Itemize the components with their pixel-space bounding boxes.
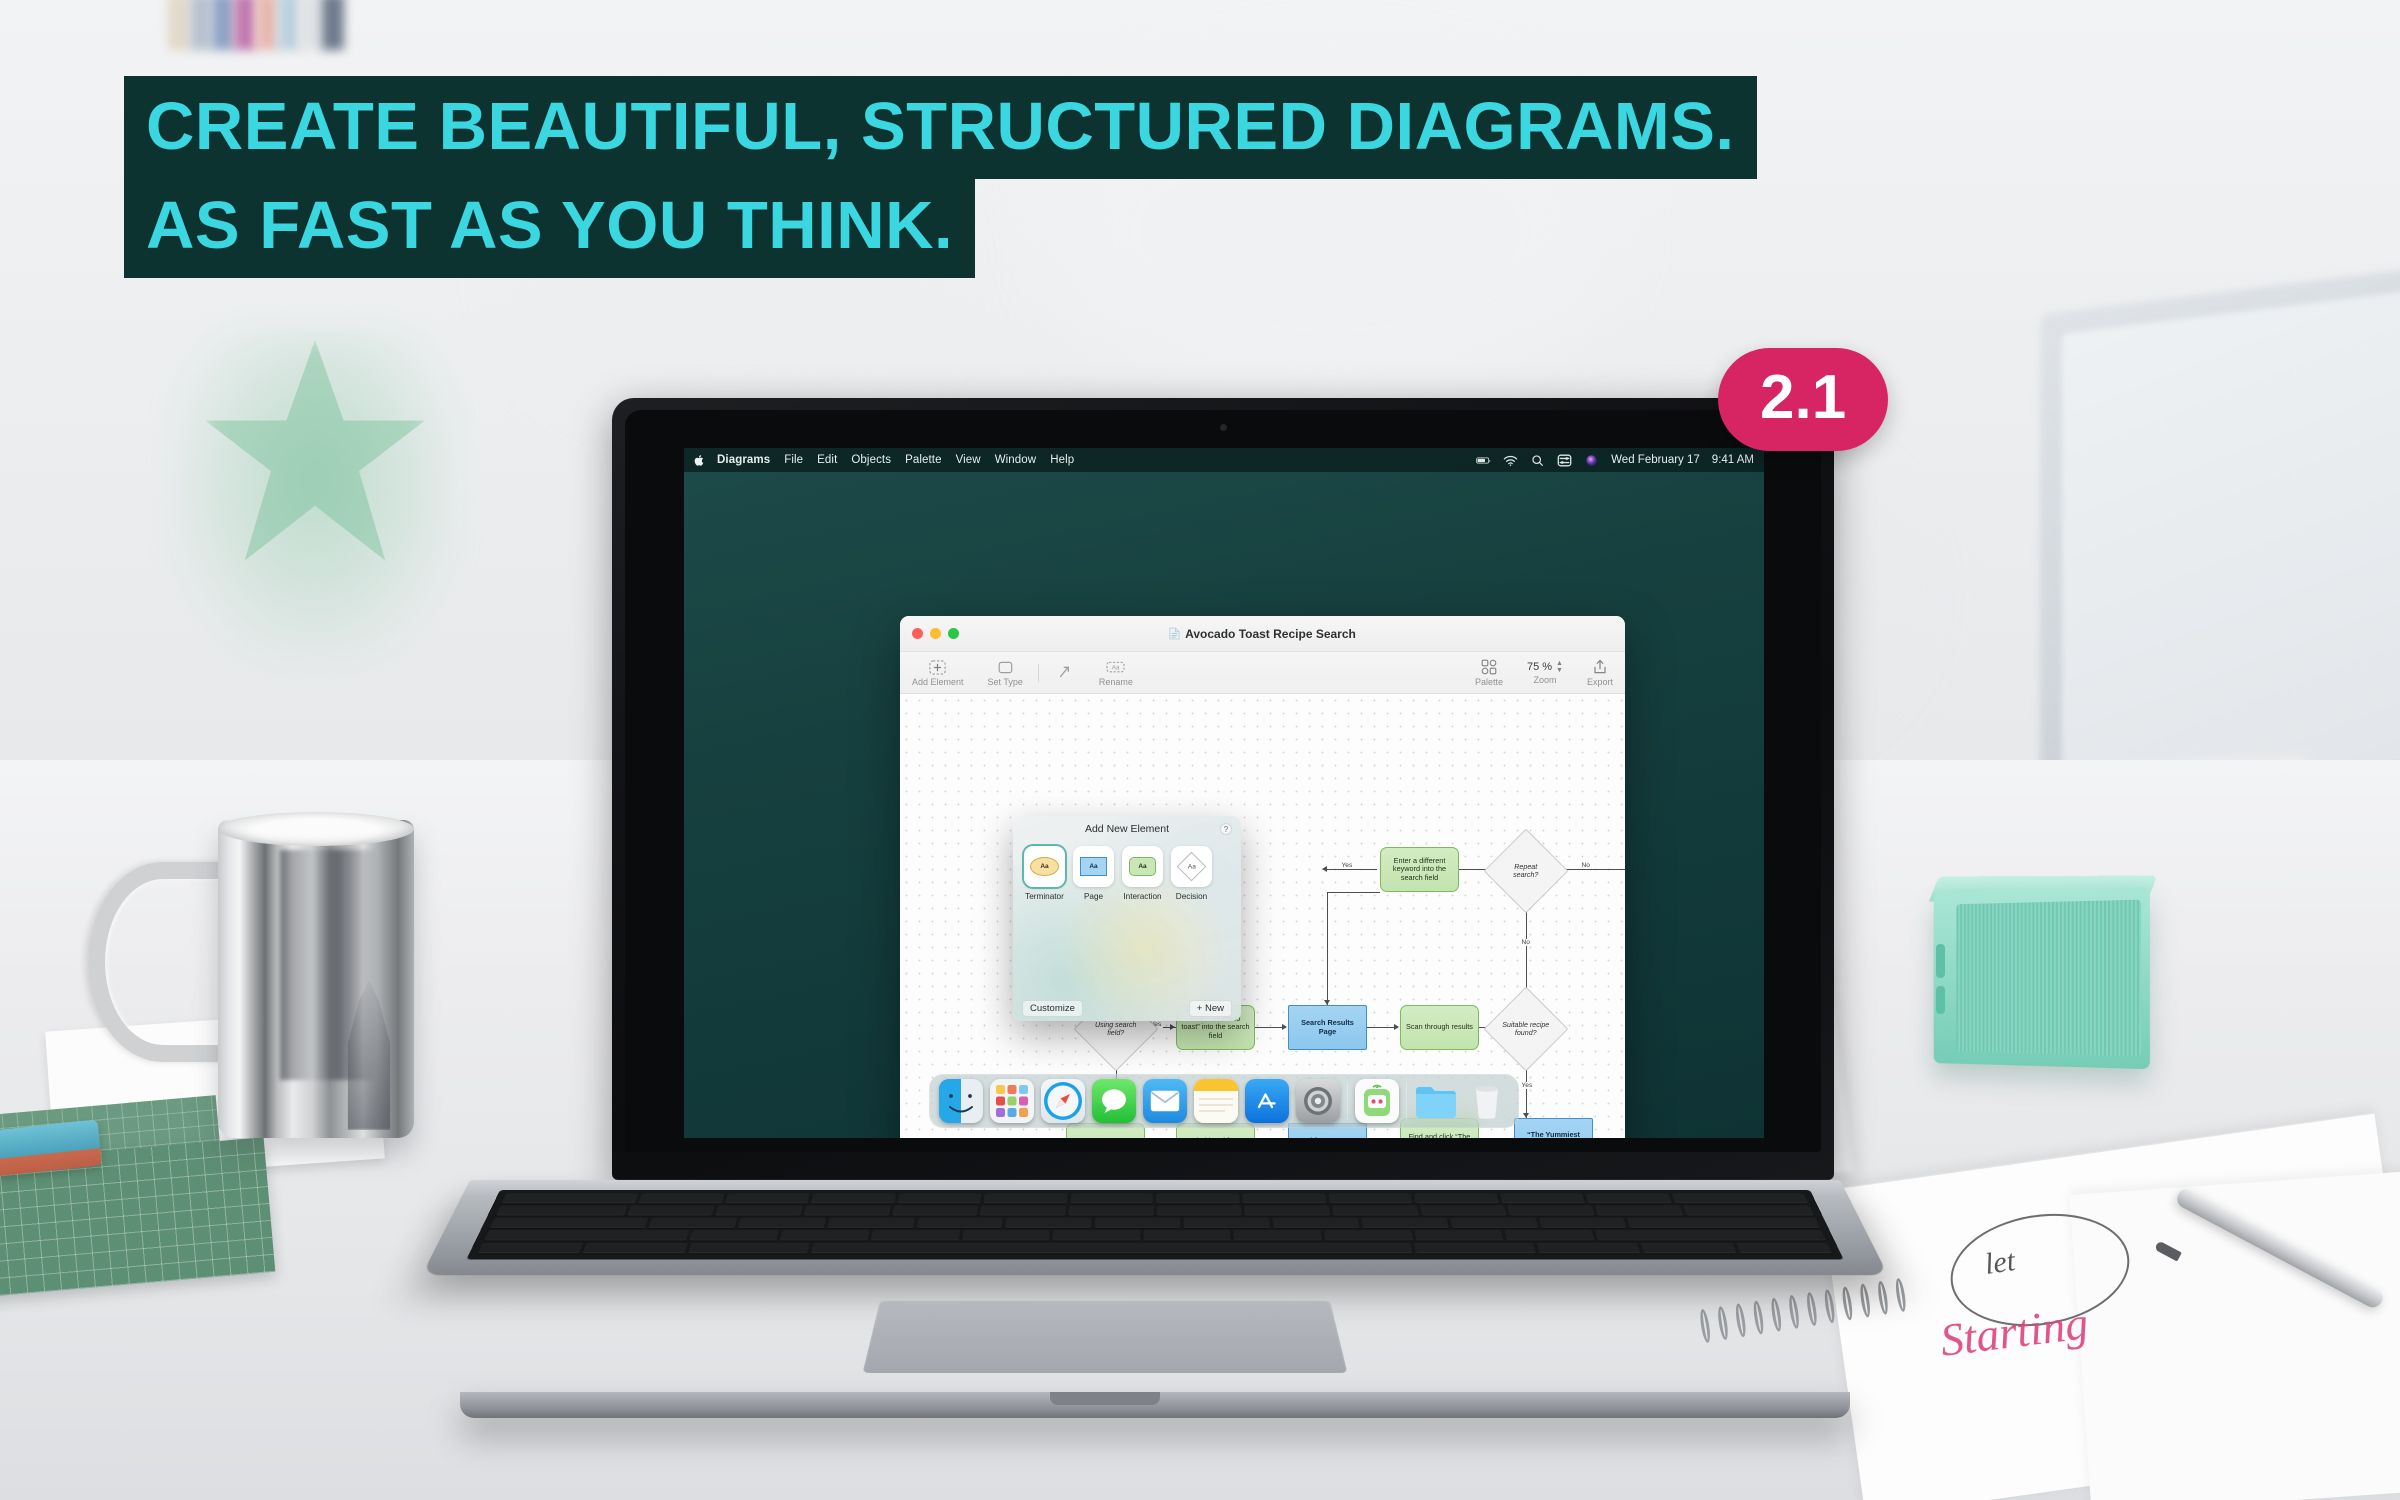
headline-line-1: CREATE BEAUTIFUL, STRUCTURED DIAGRAMS. (124, 76, 1757, 179)
plus-icon (927, 659, 948, 676)
diagram-node-yummiest-recipe-page[interactable]: “The Yummiest Avocado Toast” Recipe Page (1514, 1118, 1593, 1138)
toolbar-zoom-label: Zoom (1533, 675, 1556, 685)
apple-logo-icon[interactable] (694, 454, 705, 467)
launchpad-icon[interactable] (990, 1079, 1034, 1123)
new-element-button[interactable]: + New (1189, 1000, 1232, 1017)
export-icon (1589, 659, 1610, 676)
menubar-date[interactable]: Wed February 17 (1611, 454, 1700, 466)
rename-icon: Aa (1105, 659, 1126, 676)
svg-text:Aa: Aa (1112, 664, 1120, 671)
window-titlebar: Avocado Toast Recipe Search (900, 616, 1625, 652)
node-label: Enter a different keyword into the searc… (1385, 857, 1454, 883)
element-type-page[interactable]: Aa Page (1073, 846, 1114, 901)
notes-icon[interactable] (1194, 1079, 1238, 1123)
control-center-icon[interactable] (1557, 454, 1572, 467)
toolbar-rename-label: Rename (1099, 677, 1133, 687)
element-type-grid: Aa Terminator Aa Page (1013, 842, 1241, 901)
document-icon (1169, 627, 1180, 640)
decision-shape-icon: Aa (1177, 852, 1207, 882)
element-type-label: Page (1073, 892, 1114, 901)
help-question-icon[interactable]: ? (1220, 823, 1232, 835)
downloads-folder-icon[interactable] (1414, 1079, 1458, 1123)
shape-icon (995, 659, 1016, 676)
toolbar-connector[interactable] (1042, 664, 1087, 682)
toolbar-set-type[interactable]: Set Type (976, 659, 1035, 687)
toolbar-add-element-label: Add Element (912, 677, 964, 687)
keyboard-row (496, 1205, 1814, 1215)
popover-footer: Customize + New (1013, 995, 1241, 1021)
popover-title: Add New Element (1085, 823, 1169, 835)
menubar-app-name[interactable]: Diagrams (717, 454, 770, 466)
shape-glyph: Aa (1188, 863, 1196, 870)
shape-glyph: Aa (1089, 863, 1097, 870)
node-label: Search Results Page (1293, 1019, 1362, 1036)
decision-tile[interactable]: Aa (1171, 846, 1212, 887)
edge-diffkw-left (1327, 892, 1380, 893)
arrow-head (1322, 866, 1327, 872)
diagram-node-enter-different-keyword[interactable]: Enter a different keyword into the searc… (1380, 847, 1459, 892)
diagrams-app-window: Avocado Toast Recipe Search Add Element (900, 616, 1625, 1138)
laptop-keyboard (466, 1190, 1843, 1259)
toolbar-add-element[interactable]: Add Element (900, 659, 976, 687)
element-type-label: Interaction (1122, 892, 1163, 901)
edge-repeat-to-diffkw (1327, 869, 1377, 870)
shape-glyph: Aa (1040, 863, 1048, 870)
trash-icon[interactable] (1465, 1079, 1509, 1123)
diagram-node-repeat-search[interactable]: Repeat search? (1484, 829, 1569, 914)
toolbar-right-group: Palette 75 % ▲▼ Zoom (1463, 659, 1625, 687)
app-store-icon[interactable] (1245, 1079, 1289, 1123)
node-label: Using search field? (1091, 1021, 1141, 1038)
window-title-group: Avocado Toast Recipe Search (900, 627, 1625, 641)
diagram-node-scan-through-results[interactable]: Scan through results (1400, 1005, 1479, 1050)
messages-icon[interactable] (1092, 1079, 1136, 1123)
element-type-label: Terminator (1024, 892, 1065, 901)
toolbar-palette-label: Palette (1475, 677, 1503, 687)
node-label: Scan through results (1406, 1023, 1473, 1032)
diagrams-app-icon[interactable] (1355, 1079, 1399, 1123)
headline-line-2: AS FAST AS YOU THINK. (124, 175, 975, 278)
battery-icon[interactable] (1476, 454, 1491, 467)
element-type-interaction[interactable]: Aa Interaction (1122, 846, 1163, 901)
keyboard-row (502, 1193, 1809, 1203)
keyboard-row (490, 1218, 1820, 1228)
menubar-item-file[interactable]: File (784, 454, 803, 466)
toolbar-set-type-label: Set Type (988, 677, 1023, 687)
dock-divider (1347, 1082, 1348, 1120)
shape-glyph: Aa (1138, 863, 1146, 870)
interaction-shape-icon: Aa (1129, 857, 1156, 876)
menubar-item-edit[interactable]: Edit (817, 454, 837, 466)
edge-suitable-to-repeat (1526, 901, 1527, 999)
interaction-tile[interactable]: Aa (1122, 846, 1163, 887)
laptop-trackpad (862, 1300, 1347, 1373)
stepper-arrows-icon[interactable]: ▲▼ (1556, 661, 1563, 674)
edge-label-yes: Yes (1520, 1082, 1534, 1089)
system-settings-icon[interactable] (1296, 1079, 1340, 1123)
add-new-element-popover[interactable]: Add New Element ? Aa Terminator (1013, 816, 1241, 1021)
version-badge: 2.1 (1718, 348, 1888, 451)
popover-header: Add New Element ? (1013, 816, 1241, 842)
app-toolbar: Add Element Set Type (900, 652, 1625, 694)
toolbar-rename[interactable]: Aa Rename (1087, 659, 1145, 687)
webcam-icon (1220, 424, 1227, 431)
arrow-head (1170, 1024, 1175, 1030)
node-label: Breakfast Category Page (1293, 1137, 1362, 1138)
laptop-screen: Diagrams File Edit Objects Palette View … (684, 448, 1764, 1138)
dock-divider (1406, 1082, 1407, 1120)
customize-button[interactable]: Customize (1022, 1000, 1083, 1017)
edge-label-no: No (1580, 862, 1591, 869)
element-type-decision[interactable]: Aa Decision (1171, 846, 1212, 901)
menubar-item-palette[interactable]: Palette (905, 454, 942, 466)
menubar-time[interactable]: 9:41 AM (1712, 454, 1754, 466)
menubar-item-view[interactable]: View (956, 454, 981, 466)
diagram-node-search-results-page[interactable]: Search Results Page (1288, 1005, 1367, 1050)
element-type-terminator[interactable]: Aa Terminator (1024, 846, 1065, 901)
toolbar-palette[interactable]: Palette (1463, 659, 1515, 687)
node-label: Repeat search? (1501, 863, 1551, 880)
macos-menubar: Diagrams File Edit Objects Palette View … (684, 448, 1764, 472)
marketing-headline: CREATE BEAUTIFUL, STRUCTURED DIAGRAMS. A… (124, 76, 1757, 278)
element-type-label: Decision (1171, 892, 1212, 901)
terminator-tile[interactable]: Aa (1024, 846, 1065, 887)
finder-icon[interactable] (939, 1079, 983, 1123)
macos-dock (929, 1074, 1519, 1128)
safari-icon[interactable] (1041, 1079, 1085, 1123)
diagram-node-suitable-recipe-found[interactable]: Suitable recipe found? (1484, 987, 1569, 1072)
diagram-canvas[interactable]: Yes No No Yes (900, 694, 1625, 1138)
toolbar-export-label: Export (1587, 677, 1613, 687)
node-label: Find and click “The Yummiest Avocado Toa… (1405, 1133, 1474, 1138)
menubar-status-area: Wed February 17 9:41 AM (1476, 454, 1754, 467)
page-shape-icon: Aa (1080, 857, 1107, 876)
keyboard-row (478, 1243, 1833, 1254)
node-label: Suitable recipe found? (1501, 1021, 1551, 1038)
toolbar-export[interactable]: Export (1575, 659, 1625, 687)
node-label: “The Yummiest Avocado Toast” Recipe Page (1519, 1131, 1588, 1138)
keyboard-row (484, 1230, 1826, 1240)
terminator-shape-icon: Aa (1030, 857, 1059, 876)
edge-label-yes: Yes (1340, 862, 1354, 869)
toolbar-zoom[interactable]: 75 % ▲▼ Zoom (1515, 661, 1575, 685)
arrow-head (1394, 1024, 1399, 1030)
page-tile[interactable]: Aa (1073, 846, 1114, 887)
menubar-item-help[interactable]: Help (1050, 454, 1074, 466)
wifi-icon[interactable] (1503, 454, 1518, 467)
laptop-base-notch (1050, 1392, 1160, 1405)
edge-label-no: No (1520, 939, 1531, 946)
siri-icon[interactable] (1584, 454, 1599, 467)
node-label: Find breakfast category (1181, 1137, 1250, 1138)
menubar-item-objects[interactable]: Objects (851, 454, 891, 466)
toolbar-divider (1038, 664, 1039, 682)
zoom-stepper[interactable]: 75 % ▲▼ (1527, 661, 1563, 674)
arrow-head (1282, 1024, 1287, 1030)
connector-icon (1054, 664, 1075, 681)
edge-diffkw-down (1327, 892, 1328, 1005)
window-title-text: Avocado Toast Recipe Search (1185, 627, 1356, 641)
menubar-item-window[interactable]: Window (995, 454, 1037, 466)
palette-grid-icon (1478, 659, 1499, 676)
mail-icon[interactable] (1143, 1079, 1187, 1123)
zoom-value: 75 % (1527, 661, 1552, 673)
search-icon[interactable] (1530, 454, 1545, 467)
